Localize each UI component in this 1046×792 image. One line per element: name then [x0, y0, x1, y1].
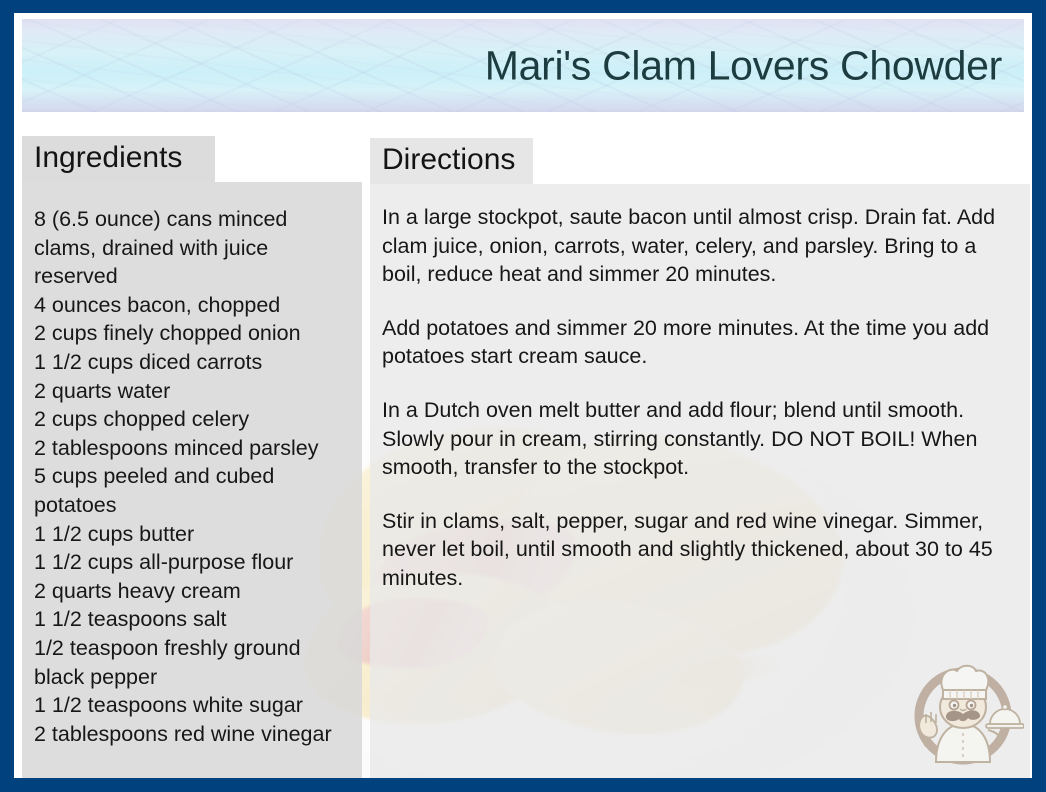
title-banner: Mari's Clam Lovers Chowder: [22, 19, 1024, 112]
ingredients-heading: Ingredients: [22, 136, 215, 182]
direction-paragraph: In a large stockpot, saute bacon until a…: [382, 203, 1016, 289]
list-item: 2 quarts water: [34, 377, 352, 406]
list-item: 2 cups chopped celery: [34, 405, 352, 434]
chef-mascot-logo: [902, 650, 1024, 768]
list-item: 5 cups peeled and cubed potatoes: [34, 462, 352, 519]
direction-paragraph: Add potatoes and simmer 20 more minutes.…: [382, 314, 1016, 371]
list-item: 1 1/2 cups butter: [34, 520, 352, 549]
cloche-icon: [986, 704, 1024, 728]
direction-paragraph: In a Dutch oven melt butter and add flou…: [382, 396, 1016, 482]
directions-heading: Directions: [370, 138, 533, 184]
ingredients-list: 8 (6.5 ounce) cans minced clams, drained…: [34, 205, 352, 748]
chef-hat-icon: [941, 666, 988, 690]
list-item: 4 ounces bacon, chopped: [34, 291, 352, 320]
direction-paragraph: Stir in clams, salt, pepper, sugar and r…: [382, 507, 1016, 593]
list-item: 1 1/2 teaspoons white sugar: [34, 691, 352, 720]
list-item: 1/2 teaspoon freshly ground black pepper: [34, 634, 352, 691]
list-item: 2 tablespoons minced parsley: [34, 434, 352, 463]
ingredients-panel: 8 (6.5 ounce) cans minced clams, drained…: [22, 182, 362, 778]
recipe-page: Mari's Clam Lovers Chowder Ingredients 8…: [14, 13, 1032, 778]
list-item: 1 1/2 cups all-purpose flour: [34, 548, 352, 577]
list-item: 1 1/2 cups diced carrots: [34, 348, 352, 377]
list-item: 2 cups finely chopped onion: [34, 319, 352, 348]
recipe-card: Mari's Clam Lovers Chowder Ingredients 8…: [0, 0, 1046, 792]
page-title: Mari's Clam Lovers Chowder: [485, 42, 1002, 89]
list-item: 2 quarts heavy cream: [34, 577, 352, 606]
list-item: 8 (6.5 ounce) cans minced clams, drained…: [34, 205, 352, 291]
list-item: 1 1/2 teaspoons salt: [34, 605, 352, 634]
list-item: 2 tablespoons red wine vinegar: [34, 720, 352, 749]
